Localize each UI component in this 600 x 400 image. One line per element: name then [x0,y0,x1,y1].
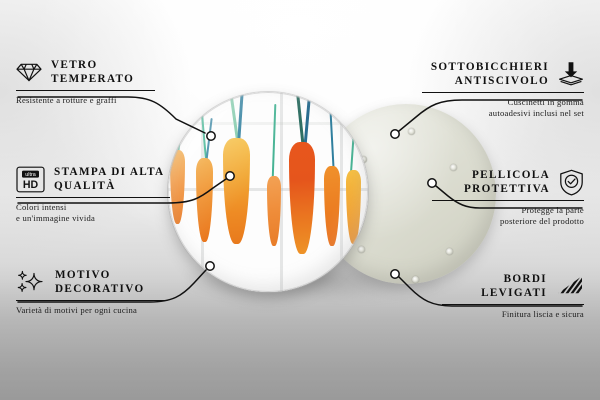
carrot-artwork [168,92,368,292]
feature-rule [16,90,155,91]
feature-rule [422,92,584,93]
product-image [168,92,448,307]
feature-sottobicchieri-antiscivolo: SOTTOBICCHIERI ANTISCIVOLO Cuscinetti in… [422,60,584,120]
feature-title-line1: MOTIVO [55,268,145,282]
feature-title-line1: SOTTOBICCHIERI [431,60,549,74]
feature-rule [442,304,584,305]
feature-title-line2: LEVIGATI [481,286,547,300]
feature-rule [16,197,170,198]
badge-hd-text: HD [23,179,39,191]
feature-desc-line2: e un'immagine vivida [16,213,191,224]
feature-stampa-alta-qualita: ultra HD STAMPA DI ALTA QUALITÀ Colori i… [16,165,191,225]
feature-title-line1: PELLICOLA [464,168,550,182]
feature-desc-line1: Resistente a rotture e graffi [16,95,178,106]
feature-rule [16,300,165,301]
rubber-foot [412,276,419,283]
feature-title-line2: ANTISCIVOLO [431,74,549,88]
feature-title-line1: BORDI [481,272,547,286]
feature-desc-line1: Colori intensi [16,202,191,213]
feature-desc-line2: autoadesivi inclusi nel set [422,108,584,119]
feature-title-line1: VETRO [51,58,134,72]
feature-bordi-levigati: BORDI LEVIGATI Finitura liscia e sicura [442,272,584,320]
anti-slip-pad-icon [558,61,584,87]
feature-title-line2: PROTETTIVA [464,182,550,196]
feature-motivo-decorativo: MOTIVO DECORATIVO Varietà di motivi per … [16,268,182,316]
hatched-edge-icon [556,274,584,298]
feature-title-line1: STAMPA DI ALTA [54,165,165,179]
shield-check-icon [559,169,584,196]
rubber-foot [446,248,453,255]
feature-pellicola-protettiva: PELLICOLA PROTETTIVA Protegge la parte p… [432,168,584,228]
feature-desc-line1: Varietà di motivi per ogni cucina [16,305,182,316]
feature-desc-line2: posteriore del prodotto [432,216,584,227]
feature-desc-line1: Protegge la parte [432,205,584,216]
feature-vetro-temperato: VETRO TEMPERATO Resistente a rotture e g… [16,58,178,106]
ultra-hd-badge-icon: ultra HD [16,166,45,193]
feature-rule [432,200,584,201]
feature-title-line2: TEMPERATO [51,72,134,86]
feature-title-line2: QUALITÀ [54,179,165,193]
feature-desc-line1: Cuscinetti in gomma [422,97,584,108]
front-disc-with-artwork [168,92,368,292]
infographic-canvas: VETRO TEMPERATO Resistente a rotture e g… [0,0,600,400]
feature-desc-line1: Finitura liscia e sicura [442,309,584,320]
rubber-foot [408,128,415,135]
feature-title-line2: DECORATIVO [55,282,145,296]
diamond-icon [16,61,42,83]
badge-ultra-text: ultra [25,172,36,178]
sparkles-icon [16,270,46,294]
